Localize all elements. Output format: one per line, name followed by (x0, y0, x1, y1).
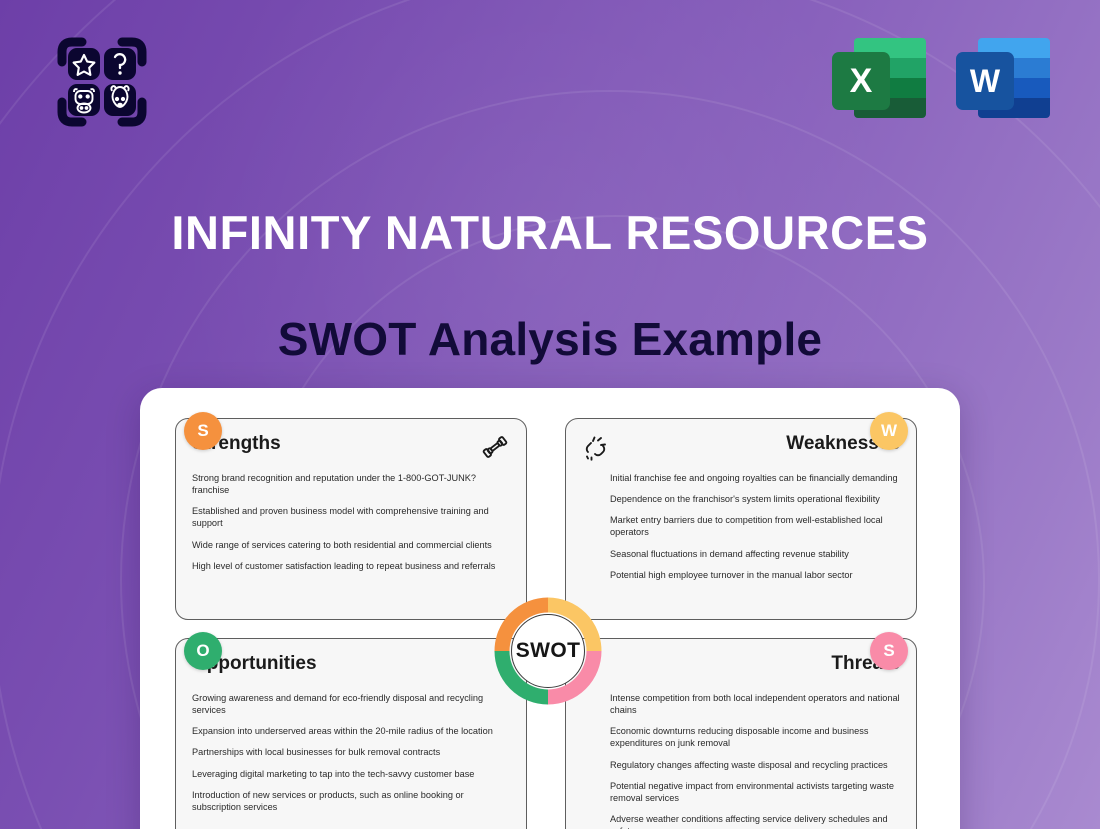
quadrant-weaknesses[interactable]: Weaknesses Initial franchise fee and ong… (565, 418, 917, 620)
dumbbell-icon (480, 433, 510, 461)
badge-opportunities: O (184, 632, 222, 670)
animal-quiz-logo[interactable] (48, 28, 156, 136)
donut-label: SWOT (511, 614, 585, 688)
list-item: Adverse weather conditions affecting ser… (582, 813, 900, 829)
quadrant-items: Growing awareness and demand for eco-fri… (192, 692, 510, 813)
quadrant-header: Strengths (192, 433, 510, 463)
word-icon[interactable]: W (956, 30, 1052, 126)
page-title: INFINITY NATURAL RESOURCES (0, 205, 1100, 260)
list-item: Potential high employee turnover in the … (582, 569, 900, 581)
list-item: Seasonal fluctuations in demand affectin… (582, 548, 900, 560)
list-item: Strong brand recognition and reputation … (192, 472, 510, 496)
list-item: Market entry barriers due to competition… (582, 514, 900, 538)
list-item: Leveraging digital marketing to tap into… (192, 768, 510, 780)
list-item: Partnerships with local businesses for b… (192, 746, 510, 758)
badge-strengths: S (184, 412, 222, 450)
list-item: Expansion into underserved areas within … (192, 725, 510, 737)
quadrant-header: Threats (582, 653, 900, 683)
quadrant-title: Weaknesses (612, 433, 900, 455)
badge-threats: S (870, 632, 908, 670)
list-item: Regulatory changes affecting waste dispo… (582, 759, 900, 771)
list-item: High level of customer satisfaction lead… (192, 560, 510, 572)
list-item: Potential negative impact from environme… (582, 780, 900, 804)
quadrant-strengths[interactable]: Strengths Strong brand recognition an (175, 418, 527, 620)
word-letter: W (956, 52, 1014, 110)
page-subtitle: SWOT Analysis Example (0, 312, 1100, 366)
list-item: Intense competition from both local inde… (582, 692, 900, 716)
list-item: Wide range of services catering to both … (192, 539, 510, 551)
excel-icon[interactable]: X (832, 30, 928, 126)
list-item: Established and proven business model wi… (192, 505, 510, 529)
quadrant-header: Opportunities (192, 653, 510, 683)
list-item: Growing awareness and demand for eco-fri… (192, 692, 510, 716)
badge-weaknesses: W (870, 412, 908, 450)
broken-chain-icon (582, 433, 612, 461)
quadrant-title: Threats (582, 653, 900, 675)
quadrant-title: Strengths (192, 433, 480, 455)
list-item: Dependence on the franchisor's system li… (582, 493, 900, 505)
list-item: Initial franchise fee and ongoing royalt… (582, 472, 900, 484)
quadrant-opportunities[interactable]: Opportunities Growing awareness and dema… (175, 638, 527, 829)
list-item: Economic downturns reducing disposable i… (582, 725, 900, 749)
quadrant-threats[interactable]: Threats Intense competition from both lo… (565, 638, 917, 829)
excel-letter: X (832, 52, 890, 110)
quadrant-items: Initial franchise fee and ongoing royalt… (582, 472, 900, 581)
quadrant-header: Weaknesses (582, 433, 900, 463)
swot-donut: SWOT (494, 597, 602, 705)
list-item: Introduction of new services or products… (192, 789, 510, 813)
quadrant-title: Opportunities (192, 653, 510, 675)
office-app-icons: X W (832, 30, 1052, 126)
quadrant-items: Strong brand recognition and reputation … (192, 472, 510, 572)
quadrant-items: Intense competition from both local inde… (582, 692, 900, 829)
